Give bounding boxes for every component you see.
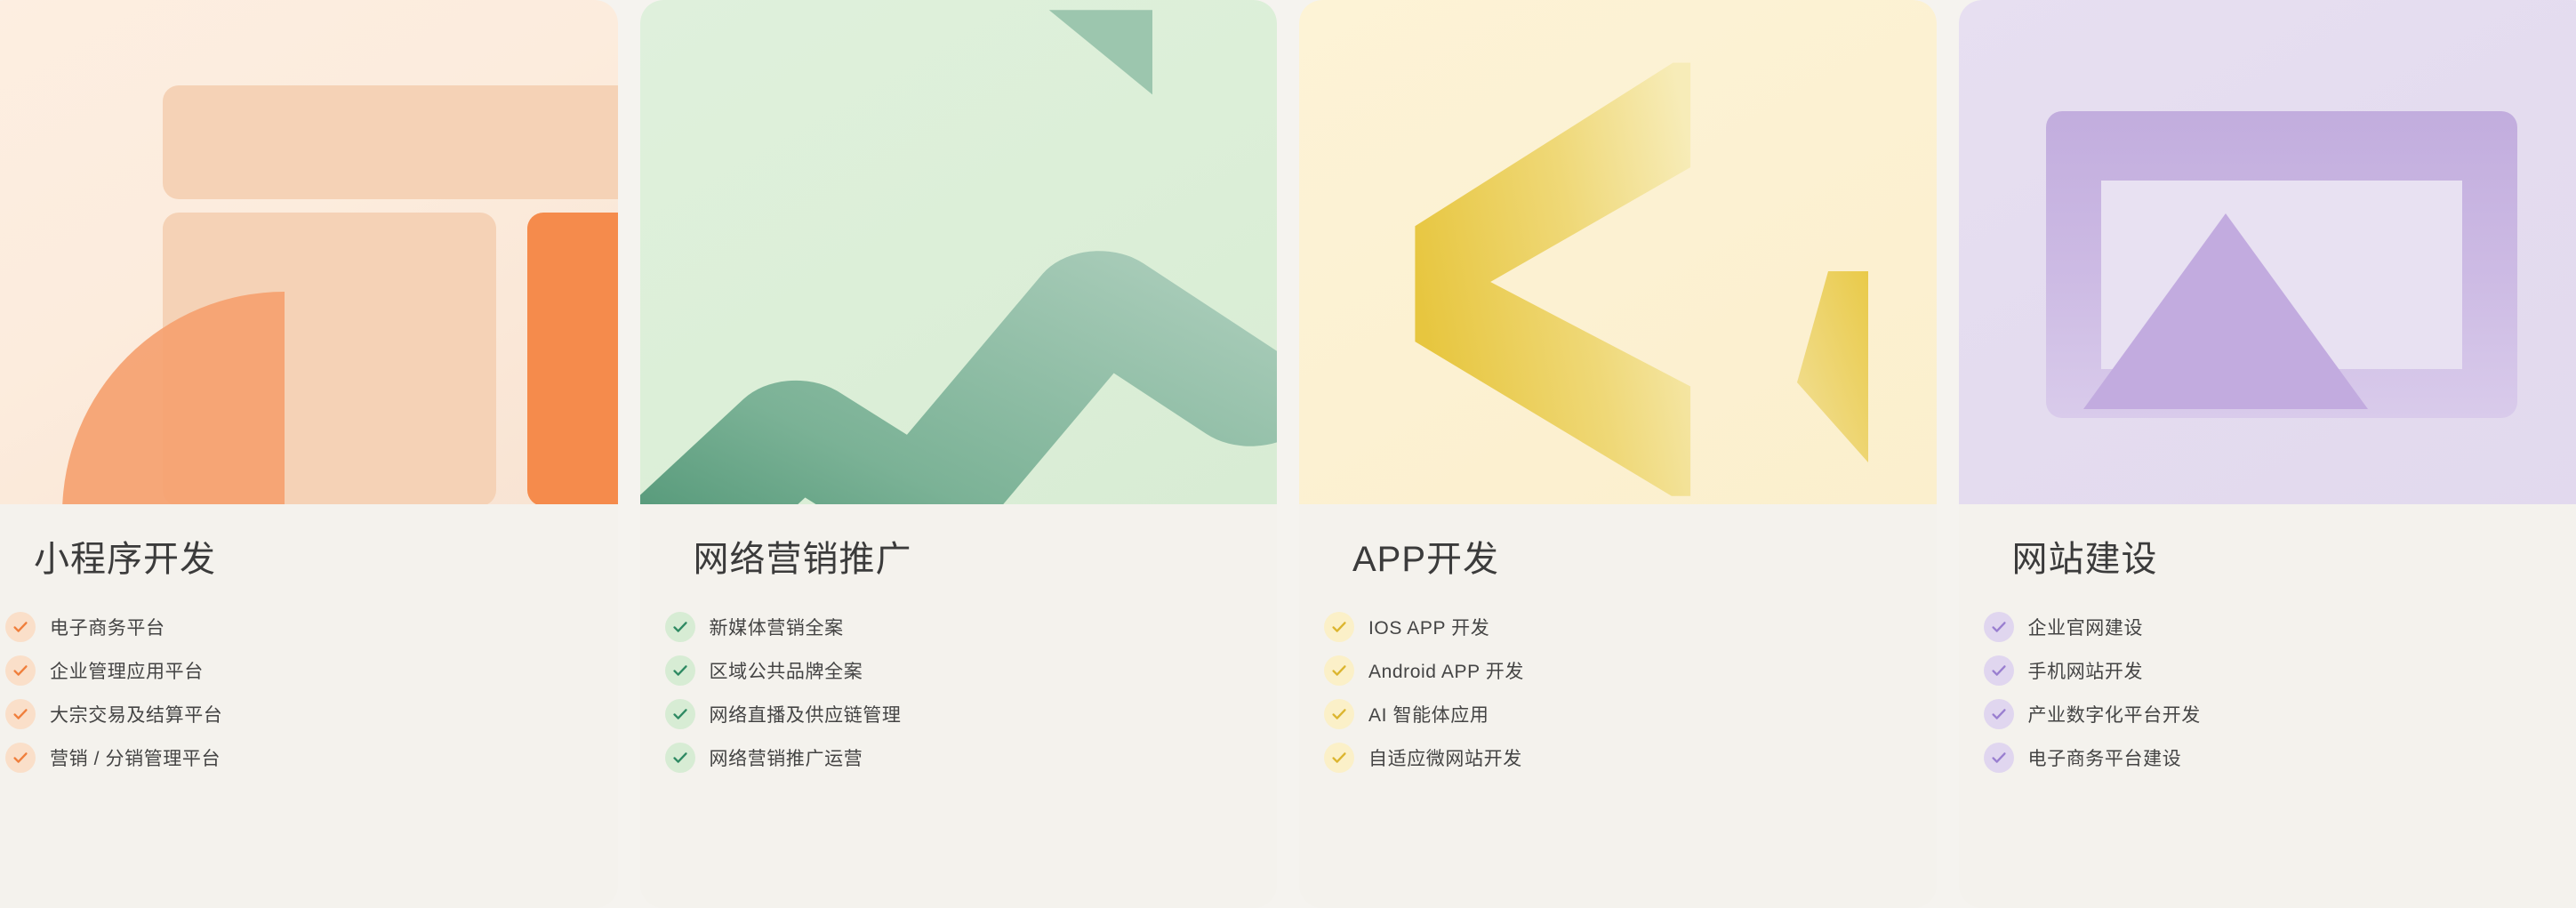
list-item[interactable]: IOS APP 开发: [1324, 611, 1937, 643]
feature-label: 区域公共品牌全案: [710, 657, 863, 684]
card-body: 网站建设 企业官网建设 手机网站开发: [1959, 504, 2576, 908]
growth-arrow-icon: [640, 0, 1278, 504]
dashboard-top-bar-shape: [163, 85, 618, 199]
list-item[interactable]: 产业数字化平台开发: [1984, 698, 2576, 730]
page-title: 网站建设: [1959, 538, 2576, 581]
list-item[interactable]: 企业官网建设: [1984, 611, 2576, 643]
check-icon: [665, 612, 695, 642]
feature-label: 手机网站开发: [2028, 657, 2144, 684]
dashboard-quarter-circle-shape: [62, 292, 285, 504]
list-item[interactable]: AI 智能体应用: [1324, 698, 1937, 730]
page-title: APP开发: [1299, 538, 1937, 581]
feature-label: 营销 / 分销管理平台: [50, 744, 221, 771]
dashboard-side-panel-shape: [527, 213, 618, 504]
check-icon: [1324, 699, 1354, 729]
feature-label: 网络营销推广运营: [710, 744, 863, 771]
feature-list: 企业官网建设 手机网站开发 产业数字化平台开发: [1959, 611, 2576, 774]
feature-list: IOS APP 开发 Android APP 开发 AI 智能体应用: [1299, 611, 1937, 774]
feature-label: 电子商务平台: [50, 614, 165, 640]
check-icon: [1984, 743, 2014, 773]
check-icon: [665, 699, 695, 729]
list-item[interactable]: 企业管理应用平台: [5, 655, 618, 687]
check-icon: [665, 655, 695, 686]
check-icon: [1324, 612, 1354, 642]
card-illustration-monitor-screen: [1959, 0, 2576, 504]
card-illustration-code-chevron: [1299, 0, 1937, 504]
card-illustration-dashboard-blocks: [0, 0, 618, 504]
service-card-app-development[interactable]: APP开发 IOS APP 开发 Android APP 开发: [1299, 0, 1937, 908]
mountain-triangle-shape: [2083, 213, 2368, 409]
list-item[interactable]: 区域公共品牌全案: [665, 655, 1278, 687]
feature-label: 电子商务平台建设: [2028, 744, 2182, 771]
service-card-network-marketing[interactable]: 网络营销推广 新媒体营销全案 区域公共品牌全案: [640, 0, 1278, 908]
service-card-website-construction[interactable]: 网站建设 企业官网建设 手机网站开发: [1959, 0, 2576, 908]
page-title: 网络营销推广: [640, 538, 1278, 581]
check-icon: [5, 743, 36, 773]
feature-list: 电子商务平台 企业管理应用平台 大宗交易及结算平台: [0, 611, 618, 774]
feature-list: 新媒体营销全案 区域公共品牌全案 网络直播及供应链管理: [640, 611, 1278, 774]
check-icon: [1324, 655, 1354, 686]
list-item[interactable]: 新媒体营销全案: [665, 611, 1278, 643]
list-item[interactable]: 电子商务平台: [5, 611, 618, 643]
feature-label: IOS APP 开发: [1368, 614, 1489, 640]
card-body: 小程序开发 电子商务平台 企业管理应用平台: [0, 504, 618, 908]
feature-label: 企业管理应用平台: [50, 657, 204, 684]
check-icon: [1984, 699, 2014, 729]
card-body: 网络营销推广 新媒体营销全案 区域公共品牌全案: [640, 504, 1278, 908]
feature-label: 网络直播及供应链管理: [710, 701, 902, 727]
check-icon: [1984, 655, 2014, 686]
feature-label: 企业官网建设: [2028, 614, 2144, 640]
list-item[interactable]: 网络营销推广运营: [665, 742, 1278, 774]
card-illustration-growth-arrow: [640, 0, 1278, 504]
list-item[interactable]: 手机网站开发: [1984, 655, 2576, 687]
list-item[interactable]: 大宗交易及结算平台: [5, 698, 618, 730]
check-icon: [665, 743, 695, 773]
page-title: 小程序开发: [0, 538, 618, 581]
feature-label: 产业数字化平台开发: [2028, 701, 2201, 727]
list-item[interactable]: 营销 / 分销管理平台: [5, 742, 618, 774]
service-card-mini-program[interactable]: 小程序开发 电子商务平台 企业管理应用平台: [0, 0, 618, 908]
feature-label: 自适应微网站开发: [1368, 744, 1522, 771]
service-cards-row: 小程序开发 电子商务平台 企业管理应用平台: [0, 0, 2576, 908]
feature-label: 大宗交易及结算平台: [50, 701, 222, 727]
code-chevron-icon: [1299, 0, 1937, 504]
check-icon: [5, 612, 36, 642]
check-icon: [1984, 612, 2014, 642]
list-item[interactable]: 自适应微网站开发: [1324, 742, 1937, 774]
check-icon: [5, 699, 36, 729]
list-item[interactable]: 网络直播及供应链管理: [665, 698, 1278, 730]
card-body: APP开发 IOS APP 开发 Android APP 开发: [1299, 504, 1937, 908]
feature-label: 新媒体营销全案: [710, 614, 844, 640]
feature-label: AI 智能体应用: [1368, 701, 1489, 727]
feature-label: Android APP 开发: [1368, 657, 1524, 684]
check-icon: [5, 655, 36, 686]
check-icon: [1324, 743, 1354, 773]
list-item[interactable]: Android APP 开发: [1324, 655, 1937, 687]
list-item[interactable]: 电子商务平台建设: [1984, 742, 2576, 774]
